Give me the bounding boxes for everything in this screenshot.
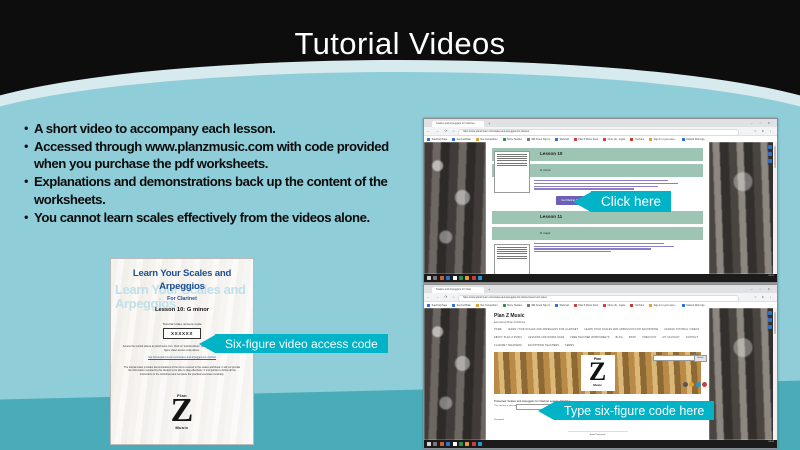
callout-type-code: Type six-figure code here: [538, 401, 714, 420]
taskbar-app-icon[interactable]: [453, 276, 457, 280]
social-icon-orange: [689, 382, 694, 387]
bookmark-icon: [476, 138, 479, 141]
clarinet-photo-right: [709, 142, 777, 274]
nav-item[interactable]: LEARN YOUR SCALES AND ARPEGGIOS FOR CLAR…: [508, 329, 579, 331]
bookmark-icon: [427, 138, 430, 141]
list-item: • Explanations and demonstrations back u…: [18, 173, 420, 207]
bookmark-item[interactable]: Net Competition: [476, 304, 498, 307]
bookmark-item[interactable]: Inbox (4) - logins: [603, 138, 625, 141]
logo-bottom-text: Music: [581, 383, 615, 387]
search-button[interactable]: Search: [694, 355, 707, 362]
browser-nav-bar: ← → ⟳ ⌂ https://www.planzmusic.com/scale…: [424, 293, 777, 302]
bookmark-icon: [574, 304, 577, 307]
address-text: https://www.planzmusic.com/scales-and-ar…: [463, 296, 547, 300]
nav-item[interactable]: LESSONS AND DOWNLOADS: [528, 337, 564, 339]
bookmark-item[interactable]: Will Arnett Sign In: [527, 304, 550, 307]
bullet-dot-icon: •: [18, 138, 34, 172]
bookmark-label: Home Studies: [507, 304, 522, 307]
bookmark-item[interactable]: Plan Z Music Docs: [574, 304, 598, 307]
bookmark-item[interactable]: Home Studies: [503, 138, 522, 141]
worksheet-logo: Plan Z Music: [111, 393, 253, 430]
search-icon[interactable]: [433, 442, 437, 446]
page-content-bottom: Plan Z Music Educational Music Publishin…: [486, 308, 709, 440]
bookmark-icon: [555, 138, 558, 141]
social-icons[interactable]: [683, 382, 708, 387]
bookmark-icon: [503, 304, 506, 307]
tool-icon: [768, 325, 772, 329]
browser-tab-title: Scales and Arpeggios for Clarinet: [436, 121, 475, 127]
taskbar-app-icon[interactable]: [459, 276, 463, 280]
arrow-left-icon: [538, 402, 554, 420]
bookmark-icon: [630, 138, 633, 141]
nav-item[interactable]: CHECKOUT: [642, 337, 657, 339]
social-icon-grey: [683, 382, 688, 387]
worksheet-heading: Learn Your Scales and Arpeggios: [119, 268, 245, 293]
taskbar-app-icon[interactable]: [465, 442, 469, 446]
bookmark-item[interactable]: YouTube: [630, 304, 644, 307]
bookmark-icon: [574, 138, 577, 141]
nav-item[interactable]: MY ACCOUNT: [663, 337, 680, 339]
browser-tab-bar: Scales and Arpeggios for Clari... + − ▫ …: [424, 285, 777, 293]
bookmark-item[interactable]: Webmail: [555, 138, 569, 141]
bookmark-icon: [452, 138, 455, 141]
bookmark-icon: [527, 138, 530, 141]
bookmark-item[interactable]: Plan Z Music Docs: [574, 138, 598, 141]
bookmark-icon: [682, 304, 685, 307]
nav-item[interactable]: ACCESS TUTORIAL VIDEOS: [664, 329, 699, 331]
bookmark-item[interactable]: Webmail: [555, 304, 569, 307]
nav-item[interactable]: CLARINET TEACHERS: [494, 345, 522, 347]
lesson-bar[interactable]: Lesson 11: [492, 211, 703, 224]
address-text: https://www.planzmusic.com/scales-and-ar…: [463, 130, 529, 134]
site-nav: HOME LEARN YOUR SCALES AND ARPEGGIOS FOR…: [486, 324, 709, 347]
tool-icon: [768, 311, 772, 315]
nav-icons[interactable]: ← → ⟳ ⌂: [427, 129, 457, 133]
callout-label: Six-figure video access code: [215, 337, 388, 351]
bookmark-icon: [649, 138, 652, 141]
bookmark-label: Webmail: [560, 304, 569, 307]
bookmark-item[interactable]: Inbox (4) - logins: [603, 304, 625, 307]
bookmark-label: Webmail: [560, 138, 569, 141]
bullet-list: • A short video to accompany each lesson…: [18, 120, 420, 227]
bookmark-icon: [503, 138, 506, 141]
address-bar[interactable]: https://www.planzmusic.com/scales-and-ar…: [458, 129, 739, 136]
worksheet-lesson: Lesson 10: G minor: [119, 307, 245, 313]
callout-label: Click here: [591, 194, 671, 209]
list-item: • Accessed through www.planzmusic.com wi…: [18, 138, 420, 172]
callout-body: Click here: [591, 191, 671, 212]
logo-letter-z: Z: [581, 361, 615, 384]
bookmark-label: Teaching Page: [431, 138, 447, 141]
bookmark-label: YouTube: [635, 304, 644, 307]
callout-label: Type six-figure code here: [554, 404, 714, 418]
callout-body: Six-figure video access code: [215, 334, 388, 353]
lesson-key: D major: [540, 231, 551, 235]
browser-tab-bar: Scales and Arpeggios for Clarinet + − ▫ …: [424, 119, 777, 127]
clarinet-photo-right: [709, 308, 777, 440]
nav-item[interactable]: ABOUT PLAN Z MUSIC: [494, 337, 522, 339]
callout-click-here: Click here: [573, 191, 671, 212]
bookmark-label: YouTube: [635, 138, 644, 141]
callout-body: Type six-figure code here: [554, 401, 714, 420]
nav-item[interactable]: BLOG: [616, 337, 623, 339]
lesson-key-bar: D major: [492, 227, 703, 240]
bookmark-icon: [555, 304, 558, 307]
bookmark-item[interactable]: Home Studies: [503, 304, 522, 307]
arrow-left-icon: [199, 335, 215, 353]
list-item: • A short video to accompany each lesson…: [18, 120, 420, 137]
bullet-text: Explanations and demonstrations back up …: [34, 173, 420, 207]
bookmark-icon: [603, 138, 606, 141]
nav-icons[interactable]: ← → ⟳ ⌂: [427, 295, 457, 299]
nav-item[interactable]: FREE TEACHER WORKSHEETS: [570, 337, 609, 339]
bookmark-item[interactable]: YouTube: [630, 138, 644, 141]
taskbar-app-icon[interactable]: [446, 276, 450, 280]
logo-bottom-text: Music: [111, 425, 253, 430]
bookmark-label: Will Arnett Sign In: [531, 304, 550, 307]
logo-letter-z: Z: [111, 398, 253, 425]
window-controls[interactable]: − ▫ ✕: [751, 121, 773, 125]
bullet-text: Accessed through www.planzmusic.com with…: [34, 138, 420, 172]
hero-logo: Plan Z Music: [581, 355, 615, 391]
bookmark-label: Net Competition: [480, 138, 497, 141]
bookmark-label: Plan Z Music Docs: [578, 304, 598, 307]
start-icon[interactable]: [427, 276, 431, 280]
bookmark-item[interactable]: Outlook Web App: [682, 304, 705, 307]
bookmark-icon: [649, 304, 652, 307]
vertical-scrollbar[interactable]: [773, 142, 777, 274]
taskbar-app-icon[interactable]: [472, 276, 476, 280]
bookmark-icon: [682, 138, 685, 141]
taskbar-app-icon[interactable]: [440, 276, 444, 280]
list-item: • You cannot learn scales effectively fr…: [18, 209, 420, 226]
social-icon-youtube: [702, 382, 707, 387]
nav-item[interactable]: SHOP: [629, 337, 636, 339]
clarinet-photo-left: [424, 142, 486, 274]
social-icon-twitter: [696, 382, 701, 387]
site-title: Plan Z Music: [486, 308, 709, 319]
worksheet-link: http://www.planzmusic.com/scales-and-arp…: [119, 356, 245, 360]
nav-item[interactable]: HOME: [494, 329, 502, 331]
worksheet-instrument: For Clarinet: [119, 296, 245, 302]
tool-icon: [768, 152, 772, 156]
new-tab-icon[interactable]: +: [488, 122, 490, 126]
worksheet-code-caption: Tutorial video access code: [119, 322, 245, 326]
bullet-dot-icon: •: [18, 173, 34, 207]
bookmark-item[interactable]: Teaching Page: [427, 304, 447, 307]
browser-tab-title: Scales and Arpeggios for Clari...: [436, 287, 473, 293]
bookmark-label: Teaching Page: [431, 304, 447, 307]
bookmark-item[interactable]: Teaching Page: [427, 138, 447, 141]
taskbar-app-icon[interactable]: [446, 442, 450, 446]
bookmark-item[interactable]: Net Competition: [476, 138, 498, 141]
browser-nav-bar: ← → ⟳ ⌂ https://www.planzmusic.com/scale…: [424, 127, 777, 136]
taskbar-app-icon[interactable]: [472, 442, 476, 446]
lesson-title: Lesson 10: [540, 151, 562, 156]
bookmark-icon: [630, 304, 633, 307]
worksheet-footnote: The tutorial video provides demonstratio…: [119, 366, 245, 377]
taskbar-clock: 09:21: [769, 275, 774, 278]
bookmark-icon: [603, 304, 606, 307]
new-tab-icon[interactable]: +: [488, 288, 490, 292]
bookmark-label: Sign in to your acco...: [654, 304, 677, 307]
nav-right-icons[interactable]: ☆ ⬇ ⋮: [754, 295, 774, 299]
taskbar-app-icon[interactable]: [453, 442, 457, 446]
bookmark-item[interactable]: Second Brain: [452, 138, 471, 141]
bookmark-label: Inbox (4) - logins: [608, 304, 626, 307]
bookmark-icon: [476, 304, 479, 307]
arrow-left-icon: [573, 192, 591, 212]
bookmark-label: Inbox (4) - logins: [608, 138, 626, 141]
tool-icon: [768, 145, 772, 149]
address-bar[interactable]: https://www.planzmusic.com/scales-and-ar…: [458, 295, 739, 302]
lesson-title: Lesson 11: [540, 214, 562, 219]
lesson-key: G minor: [540, 168, 551, 172]
search-icon[interactable]: [433, 276, 437, 280]
bookmark-item[interactable]: Outlook Web App: [682, 138, 705, 141]
password-label: Password:: [486, 415, 504, 421]
bookmark-icon: [452, 304, 455, 307]
bookmark-item[interactable]: Sign in to your acco...: [649, 304, 676, 307]
bookmark-label: Net Competition: [480, 304, 497, 307]
bookmark-label: Outlook Web App: [686, 138, 705, 141]
browser-window-bottom: Scales and Arpeggios for Clari... + − ▫ …: [423, 284, 778, 449]
score-thumbnail[interactable]: [494, 151, 530, 193]
bookmark-label: Plan Z Music Docs: [578, 138, 598, 141]
taskbar-app-icon[interactable]: [440, 442, 444, 446]
tool-icon: [768, 159, 772, 163]
taskbar: 09:24: [424, 440, 777, 448]
taskbar: 09:21: [424, 274, 777, 282]
bookmark-label: Home Studies: [507, 138, 522, 141]
side-toolbar[interactable]: [768, 145, 772, 163]
bullet-dot-icon: •: [18, 209, 34, 226]
taskbar-app-icon[interactable]: [459, 442, 463, 446]
side-toolbar[interactable]: [768, 311, 772, 329]
clarinet-photo-left: [424, 308, 486, 440]
browser-page-bottom: Plan Z Music Educational Music Publishin…: [424, 308, 777, 440]
nav-item[interactable]: LEARN YOUR SCALES AND ARPEGGIOS FOR SAXO…: [584, 329, 658, 331]
bookmark-item[interactable]: Sign in to your acco...: [649, 138, 676, 141]
taskbar-clock: 09:24: [769, 441, 774, 444]
taskbar-app-icon[interactable]: [465, 276, 469, 280]
taskbar-app-icon[interactable]: [478, 276, 482, 280]
bookmark-label: Second Brain: [457, 304, 471, 307]
nav-right-icons[interactable]: ☆ ⬇ ⋮: [754, 129, 774, 133]
bookmark-icon: [527, 304, 530, 307]
bullet-dot-icon: •: [18, 120, 34, 137]
bookmark-label: Outlook Web App: [686, 304, 705, 307]
score-thumbnail[interactable]: [494, 244, 530, 274]
start-icon[interactable]: [427, 442, 431, 446]
bullet-text: You cannot learn scales effectively from…: [34, 209, 420, 226]
tool-icon: [768, 318, 772, 322]
bullet-text: A short video to accompany each lesson.: [34, 120, 420, 137]
bookmark-icon: [427, 304, 430, 307]
nav-item[interactable]: TERMS: [565, 345, 574, 347]
taskbar-app-icon[interactable]: [478, 442, 482, 446]
callout-access-code: Six-figure video access code: [199, 334, 388, 353]
bookmark-label: Second Brain: [457, 138, 471, 141]
bookmark-item[interactable]: Will Arnett Sign In: [527, 138, 550, 141]
bookmark-label: Will Arnett Sign In: [531, 138, 550, 141]
nav-item[interactable]: SAXOPHONE TEACHERS: [528, 345, 559, 347]
vertical-scrollbar[interactable]: [773, 308, 777, 440]
window-controls[interactable]: − ▫ ✕: [751, 287, 773, 291]
search-input[interactable]: [653, 355, 695, 361]
nav-item[interactable]: CONTACT: [686, 337, 698, 339]
slide: Tutorial Videos • A short video to accom…: [0, 0, 800, 450]
page-title: Tutorial Videos: [0, 26, 800, 62]
worksheet-code-box: XXXXXX: [163, 328, 201, 339]
submit-password-button[interactable]: Enter Password: [568, 431, 628, 436]
bookmark-item[interactable]: Second Brain: [452, 304, 471, 307]
bookmark-label: Sign in to your acco...: [654, 138, 677, 141]
